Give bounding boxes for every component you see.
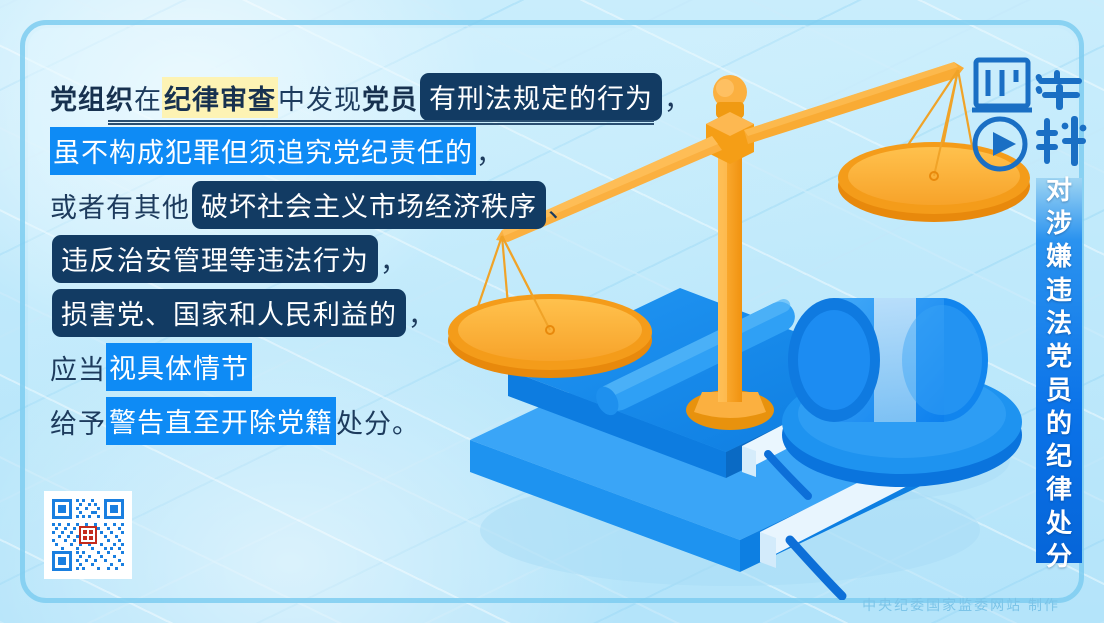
text-segment: 、 xyxy=(548,186,576,225)
play-circle-icon xyxy=(975,119,1025,169)
vertical-char: 律 xyxy=(1046,473,1072,506)
text-segment: 或者有其他 xyxy=(50,186,190,225)
vertical-title-banner: 对 涉 嫌 违 法 党 员 的 纪 律 处 分 xyxy=(1036,178,1082,563)
qr-center-seal-icon xyxy=(79,526,97,544)
pill-navy: 损害党、国家和人民利益的 xyxy=(52,289,406,337)
text-line-4: 违反治安管理等违法行为 ， xyxy=(50,232,670,286)
gavel-head xyxy=(788,298,988,422)
pill-navy: 有刑法规定的行为 xyxy=(420,73,662,121)
highlight-blue: 视具体情节 xyxy=(106,343,252,391)
pill-navy: 破坏社会主义市场经济秩序 xyxy=(192,181,546,229)
vertical-char: 的 xyxy=(1046,407,1072,440)
logo-char-fa xyxy=(1035,70,1082,110)
infographic-canvas: 党组织 在 纪律审查 中发现 党员 有刑法规定的行为 ， 虽不构成犯罪但须追究党… xyxy=(0,0,1104,623)
text-line-2: 虽不构成犯罪但须追究党纪责任的 ， xyxy=(50,124,670,178)
text-line-5: 损害党、国家和人民利益的 ， xyxy=(50,286,670,340)
text-segment: ， xyxy=(476,132,504,171)
vertical-char: 员 xyxy=(1046,374,1072,407)
text-segment: 给予 xyxy=(50,402,106,441)
text-line-1: 党组织 在 纪律审查 中发现 党员 有刑法规定的行为 ， xyxy=(50,70,670,124)
jifake-logo xyxy=(970,52,1090,180)
qr-code[interactable] xyxy=(44,491,132,579)
text-segment: ， xyxy=(664,78,692,117)
text-line-6: 应当 视具体情节 xyxy=(50,340,670,394)
body-copy: 党组织 在 纪律审查 中发现 党员 有刑法规定的行为 ， 虽不构成犯罪但须追究党… xyxy=(50,70,670,448)
vertical-char: 违 xyxy=(1046,274,1072,307)
vertical-char: 法 xyxy=(1046,307,1072,340)
text-segment: 在 xyxy=(134,78,162,117)
text-segment: ， xyxy=(408,294,436,333)
vertical-char: 对 xyxy=(1046,174,1072,207)
highlight-yellow: 纪律审查 xyxy=(162,77,278,118)
text-segment: ， xyxy=(380,240,408,279)
vertical-char: 党 xyxy=(1046,340,1072,373)
vertical-char: 分 xyxy=(1046,540,1072,573)
vertical-char: 涉 xyxy=(1046,207,1072,240)
text-segment: 党组织 xyxy=(50,78,134,117)
text-segment: 中发现 xyxy=(278,78,362,117)
text-segment: 应当 xyxy=(50,348,106,387)
vertical-char: 处 xyxy=(1046,507,1072,540)
logo-mark-icon xyxy=(972,60,1032,110)
pill-navy: 违反治安管理等违法行为 xyxy=(52,235,378,283)
vertical-char: 嫌 xyxy=(1046,240,1072,273)
text-segment: 处分。 xyxy=(336,402,420,441)
logo-char-ke xyxy=(1036,116,1086,166)
highlight-blue: 警告直至开除党籍 xyxy=(106,397,336,445)
vertical-char: 纪 xyxy=(1046,440,1072,473)
highlight-blue: 虽不构成犯罪但须追究党纪责任的 xyxy=(50,127,476,175)
text-segment: 党员 xyxy=(362,78,418,117)
text-line-3: 或者有其他 破坏社会主义市场经济秩序 、 xyxy=(50,178,670,232)
text-line-7: 给予 警告直至开除党籍 处分。 xyxy=(50,394,670,448)
credit-text: 中央纪委国家监委网站 制作 xyxy=(862,595,1060,615)
